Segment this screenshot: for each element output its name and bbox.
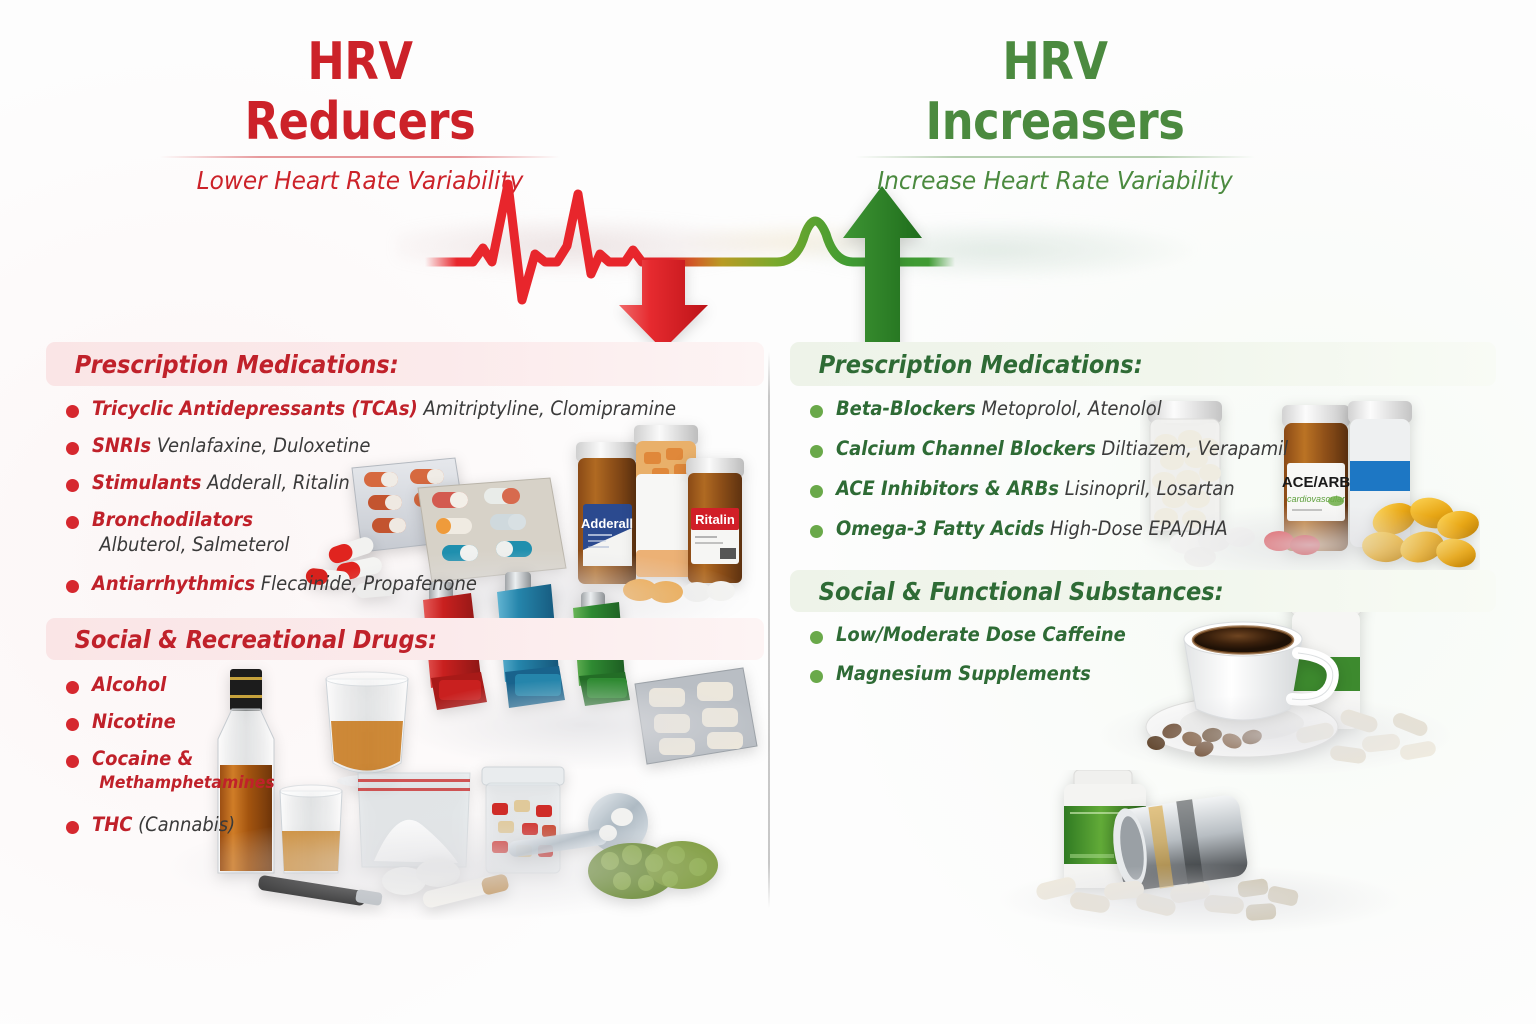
list-item-detail: Diltiazem, Verapamil	[1102, 437, 1289, 460]
list-item-detail: Metoprolol, Atenolol	[981, 397, 1161, 420]
bullet-dot-icon	[810, 485, 823, 498]
bullet-dot-icon	[810, 525, 823, 538]
list-item-term: Beta-Blockers	[836, 397, 976, 420]
left-section-2-label: Social & Recreational Drugs:	[46, 625, 437, 654]
bullet-dot-icon	[66, 479, 79, 492]
left-section-1-list: Tricyclic Antidepressants (TCAs) Amitrip…	[62, 396, 752, 598]
left-header-title: HRV Reducers	[188, 32, 532, 152]
right-photo-supplements	[1000, 770, 1400, 935]
left-section-2-band: Social & Recreational Drugs:	[46, 618, 764, 660]
list-item-term: Cocaine &	[92, 747, 193, 770]
list-item-detail: Amitriptyline, Clomipramine	[423, 397, 676, 420]
bullet-dot-icon	[66, 516, 79, 529]
right-section-2-list: Low/Moderate Dose Caffeine Magnesium Sup…	[806, 622, 1206, 688]
bullet-dot-icon	[66, 681, 79, 694]
ecg-svg	[395, 150, 1195, 350]
list-item-term: Antiarrhythmics	[92, 572, 255, 595]
list-item-term: SNRIs	[92, 434, 151, 457]
list-item-term: THC	[92, 813, 132, 836]
list-item: Cocaine & Methamphetamines	[62, 746, 382, 796]
list-item: Low/Moderate Dose Caffeine	[806, 622, 1206, 647]
list-item-term: Tricyclic Antidepressants (TCAs)	[92, 397, 418, 420]
bullet-dot-icon	[66, 718, 79, 731]
list-item: Tricyclic Antidepressants (TCAs) Amitrip…	[62, 396, 752, 421]
list-item: ACE Inhibitors & ARBs Lisinopril, Losart…	[806, 476, 1486, 501]
infographic-canvas: HRV Reducers Lower Heart Rate Variabilit…	[0, 0, 1536, 1024]
list-item-term: ACE Inhibitors & ARBs	[836, 477, 1059, 500]
bullet-dot-icon	[66, 755, 79, 768]
right-section-2-label: Social & Functional Substances:	[790, 577, 1224, 606]
list-item: THC (Cannabis)	[62, 812, 382, 837]
list-item: SNRIs Venlafaxine, Duloxetine	[62, 433, 752, 458]
list-item-detail: Methamphetamines	[99, 773, 274, 793]
bullet-dot-icon	[66, 580, 79, 593]
list-item: Nicotine	[62, 709, 382, 734]
left-section-1-band: Prescription Medications:	[46, 342, 764, 386]
bullet-dot-icon	[810, 631, 823, 644]
bullet-dot-icon	[810, 445, 823, 458]
right-section-1-label: Prescription Medications:	[790, 350, 1143, 379]
list-item: Magnesium Supplements	[806, 661, 1206, 686]
list-item: Calcium Channel Blockers Diltiazem, Vera…	[806, 436, 1486, 461]
list-item-detail: Flecainide, Propafenone	[261, 572, 477, 595]
list-item: Bronchodilators Albuterol, Salmeterol	[62, 507, 752, 557]
list-item-detail: Adderall, Ritalin	[207, 471, 350, 494]
list-item-detail: Venlafaxine, Duloxetine	[157, 434, 371, 457]
list-item: Stimulants Adderall, Ritalin	[62, 470, 752, 495]
up-arrow-green	[755, 186, 922, 350]
list-item-detail: Albuterol, Salmeterol	[99, 533, 289, 556]
ecg-waveform-graphic	[395, 150, 1195, 350]
list-item-term: Alcohol	[92, 673, 166, 696]
list-item-detail: High-Dose EPA/DHA	[1050, 517, 1228, 540]
list-item-term: Stimulants	[92, 471, 201, 494]
bullet-dot-icon	[810, 670, 823, 683]
list-item-term: Magnesium Supplements	[836, 662, 1091, 685]
right-section-1-band: Prescription Medications:	[790, 342, 1496, 386]
list-item-term: Nicotine	[92, 710, 176, 733]
right-header-title: HRV Increasers	[883, 32, 1227, 152]
list-item: Beta-Blockers Metoprolol, Atenolol	[806, 396, 1486, 421]
list-item-term: Omega-3 Fatty Acids	[836, 517, 1044, 540]
list-item-detail: Lisinopril, Losartan	[1065, 477, 1235, 500]
bullet-dot-icon	[66, 442, 79, 455]
list-item: Alcohol	[62, 672, 382, 697]
right-section-2-band: Social & Functional Substances:	[790, 570, 1496, 612]
down-arrow-red	[619, 260, 708, 350]
list-item-term: Low/Moderate Dose Caffeine	[836, 623, 1126, 646]
list-item-detail: (Cannabis)	[138, 813, 235, 836]
list-item-term: Calcium Channel Blockers	[836, 437, 1096, 460]
list-item-term: Bronchodilators	[92, 508, 253, 531]
bullet-dot-icon	[66, 405, 79, 418]
bullet-dot-icon	[810, 405, 823, 418]
bullet-dot-icon	[66, 821, 79, 834]
left-section-1-label: Prescription Medications:	[46, 350, 399, 379]
list-item: Antiarrhythmics Flecainide, Propafenone	[62, 571, 752, 596]
left-section-2-list: Alcohol Nicotine Cocaine & Methamphetami…	[62, 672, 382, 839]
list-item: Omega-3 Fatty Acids High-Dose EPA/DHA	[806, 516, 1486, 541]
right-section-1-list: Beta-Blockers Metoprolol, Atenolol Calci…	[806, 396, 1486, 543]
